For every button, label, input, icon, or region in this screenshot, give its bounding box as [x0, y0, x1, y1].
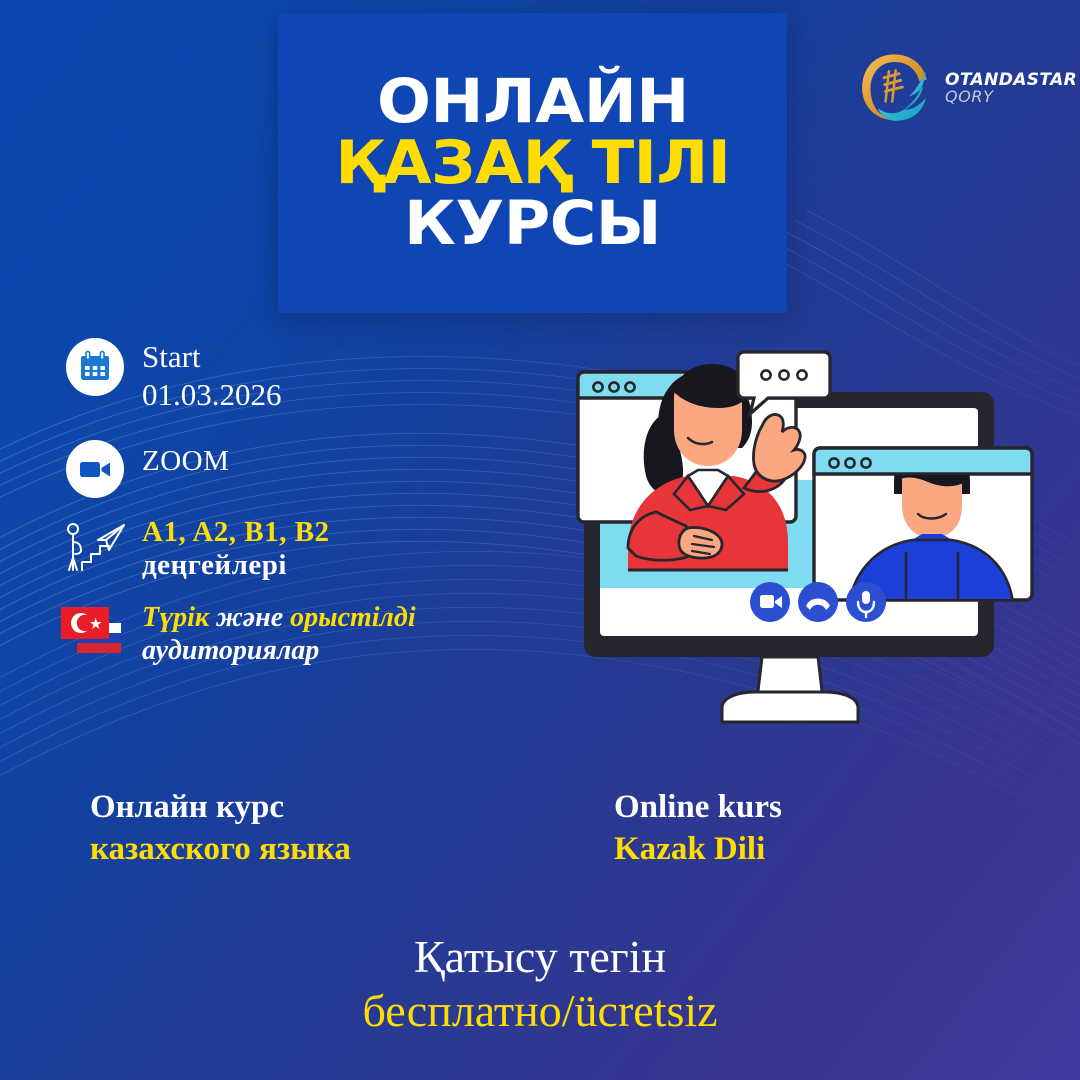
caption-turkish: Online kurs Kazak Dili	[614, 786, 782, 870]
platform-label: ZOOM	[142, 446, 229, 478]
footer-block: Қатысу тегін бесплатно/ücretsiz	[0, 930, 1080, 1039]
audiences-line-2: аудиториялар	[142, 634, 416, 668]
brand-logo: OTANDASTAR QORY	[852, 46, 1052, 130]
end-call-button[interactable]	[798, 582, 838, 622]
otandastar-emblem-icon	[852, 46, 936, 130]
title-block: ОНЛАЙН ҚАЗАҚ ТІЛІ КУРСЫ	[278, 13, 787, 313]
info-row-levels: A1, A2, B1, B2 деңгейлері	[56, 514, 556, 583]
audiences-part-2: және	[216, 602, 283, 633]
turkish-russian-flags-icon	[59, 601, 131, 663]
calendar-icon-wrap	[56, 336, 134, 396]
info-row-audiences: Түрік және орыстілді аудиториялар	[56, 599, 556, 668]
camera-button[interactable]	[750, 582, 790, 622]
info-row-platform: ZOOM	[56, 430, 556, 498]
start-value: 01.03.2026	[142, 376, 282, 414]
video-camera-icon-circle	[66, 440, 124, 498]
info-list: Start 01.03.2026 ZOOM	[56, 336, 556, 684]
call-controls[interactable]	[750, 582, 886, 622]
platform-text: ZOOM	[134, 430, 229, 478]
footer-line-2: бесплатно/ücretsiz	[0, 984, 1080, 1038]
caption-tr-line-1: Online kurs	[614, 786, 782, 828]
title-line-3: КУРСЫ	[404, 194, 661, 254]
caption-ru-line-2: казахского языка	[90, 828, 351, 870]
microphone-button[interactable]	[846, 582, 886, 622]
poster-root: ОНЛАЙН ҚАЗАҚ ТІЛІ КУРСЫ	[0, 0, 1080, 1080]
calendar-icon-circle	[66, 338, 124, 396]
levels-value: A1, A2, B1, B2	[142, 516, 329, 550]
caption-ru-line-1: Онлайн курс	[90, 786, 351, 828]
video-camera-icon	[75, 449, 115, 489]
title-line-2: ҚАЗАҚ ТІЛІ	[335, 134, 730, 193]
audiences-line-1: Түрік және орыстілді	[142, 601, 416, 635]
calendar-icon	[77, 349, 113, 385]
levels-label: деңгейлері	[142, 549, 329, 583]
start-label: Start	[142, 338, 282, 376]
stairs-progress-icon	[62, 520, 128, 578]
stairs-progress-icon-wrap	[56, 514, 134, 578]
caption-russian: Онлайн курс казахского языка	[90, 786, 351, 870]
video-call-illustration	[566, 330, 1046, 750]
caption-tr-line-2: Kazak Dili	[614, 828, 782, 870]
logo-subname: QORY	[945, 89, 1077, 106]
audiences-text: Түрік және орыстілді аудиториялар	[134, 599, 416, 668]
audiences-part-1: Түрік	[142, 602, 209, 633]
flags-icon-wrap	[56, 599, 134, 663]
info-row-start-date: Start 01.03.2026	[56, 336, 556, 414]
audiences-part-3: орыстілді	[290, 602, 415, 633]
logo-name: OTANDASTAR	[945, 71, 1077, 89]
start-date-text: Start 01.03.2026	[134, 336, 282, 414]
footer-line-1: Қатысу тегін	[0, 930, 1080, 984]
logo-text: OTANDASTAR QORY	[945, 71, 1077, 106]
video-camera-icon-wrap	[56, 430, 134, 498]
title-line-1: ОНЛАЙН	[377, 72, 689, 132]
levels-text: A1, A2, B1, B2 деңгейлері	[134, 514, 329, 583]
turkish-flag-icon	[61, 607, 109, 639]
